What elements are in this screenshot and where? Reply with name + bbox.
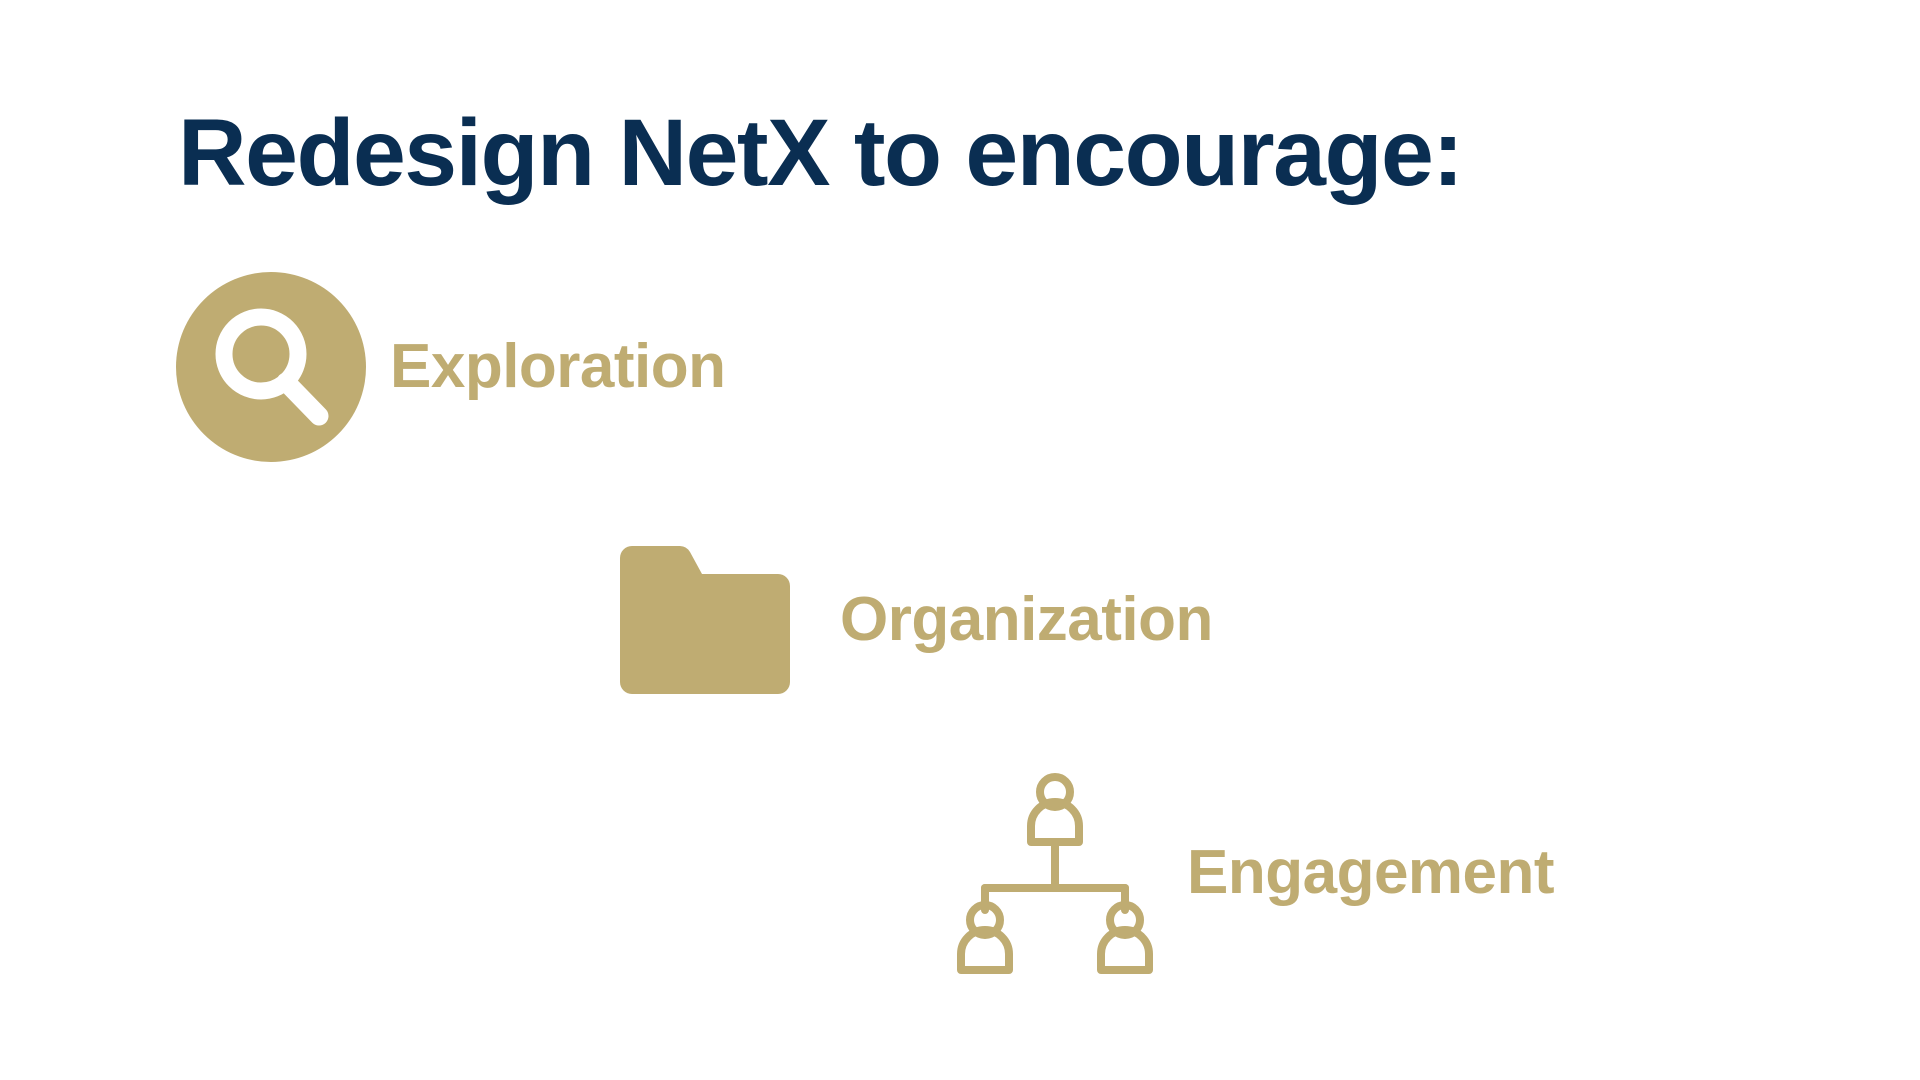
slide-title: Redesign NetX to encourage: bbox=[178, 104, 1462, 204]
bullet-label-organization: Organization bbox=[840, 589, 1213, 651]
slide-canvas: Redesign NetX to encourage: Exploration … bbox=[0, 0, 1920, 1080]
bullet-label-engagement: Engagement bbox=[1187, 842, 1554, 904]
folder-icon bbox=[610, 540, 810, 700]
bullet-item-exploration: Exploration bbox=[176, 272, 726, 462]
org-chart-people-icon bbox=[955, 770, 1155, 975]
magnifier-circle-icon bbox=[176, 272, 366, 462]
bullet-item-organization: Organization bbox=[610, 540, 1213, 700]
bullet-item-engagement: Engagement bbox=[955, 770, 1554, 975]
bullet-label-exploration: Exploration bbox=[390, 336, 726, 398]
